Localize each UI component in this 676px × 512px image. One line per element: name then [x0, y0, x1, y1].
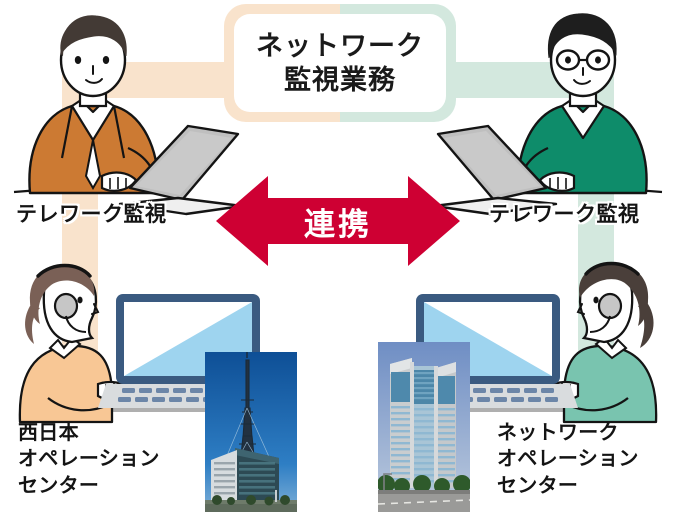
twin-tower-office-building-photo	[378, 342, 470, 512]
label-noc-line-3: センター	[497, 473, 639, 499]
label-west-japan-operation-center: 西日本 オペレーション センター	[18, 420, 160, 499]
page-title: ネットワーク 監視業務	[234, 14, 446, 112]
label-wjoc-line-2: オペレーション	[18, 446, 160, 472]
label-telework-left: テレワーク監視	[16, 198, 167, 228]
title-line-1: ネットワーク	[256, 29, 424, 63]
label-wjoc-line-1: 西日本	[18, 420, 160, 446]
title-line-2: 監視業務	[284, 63, 396, 97]
collaboration-arrow: 連携	[216, 166, 460, 276]
label-noc-line-1: ネットワーク	[497, 420, 639, 446]
label-telework-right: テレワーク監視	[489, 198, 640, 228]
diagram-canvas: ネットワーク 監視業務	[0, 0, 676, 512]
label-wjoc-line-3: センター	[18, 473, 160, 499]
label-noc-line-2: オペレーション	[497, 446, 639, 472]
double-arrow-icon	[216, 166, 460, 276]
building-with-antenna-tower-photo	[205, 352, 297, 512]
label-network-operation-center: ネットワーク オペレーション センター	[497, 420, 639, 499]
